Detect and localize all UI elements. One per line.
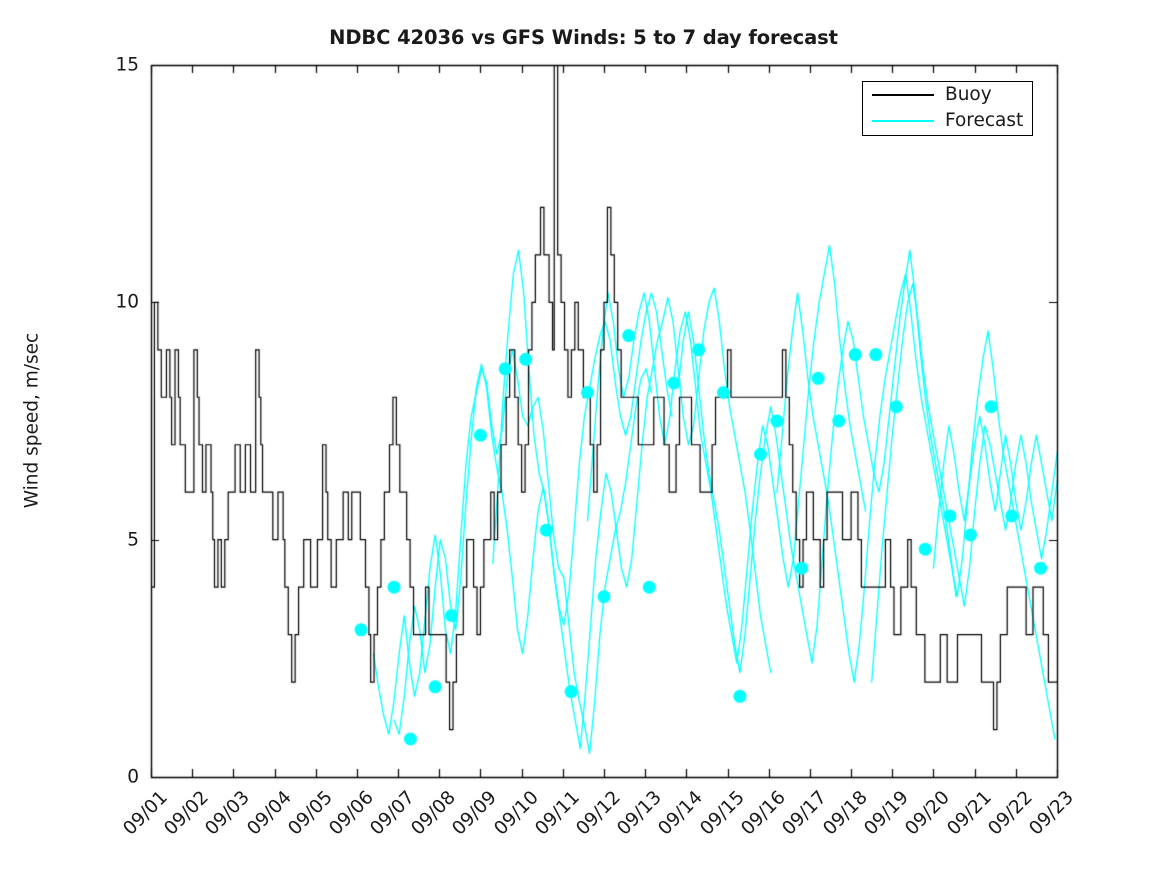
legend-item-buoy[interactable]: Buoy bbox=[863, 82, 1032, 108]
legend-line-swatch bbox=[872, 120, 934, 122]
chart-legend: BuoyForecast bbox=[862, 81, 1033, 136]
chart-figure: NDBC 42036 vs GFS Winds: 5 to 7 day fore… bbox=[0, 0, 1167, 875]
legend-line-swatch bbox=[872, 94, 934, 96]
legend-label: Forecast bbox=[945, 112, 1023, 131]
legend-item-forecast[interactable]: Forecast bbox=[863, 108, 1032, 134]
legend-label: Buoy bbox=[945, 86, 992, 105]
